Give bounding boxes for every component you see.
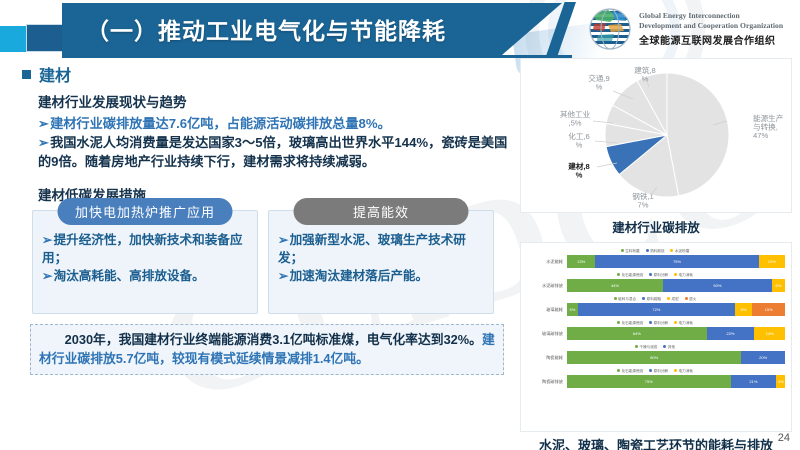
legend-swatch-icon (649, 273, 652, 276)
title-underline (62, 55, 572, 58)
arrow-bullet-icon: ➢ (42, 233, 53, 247)
legend-swatch-icon (674, 369, 677, 372)
legend-item: 其他 (663, 344, 675, 350)
legend-swatch-icon (674, 273, 677, 276)
summary-box: 2030年，我国建材行业终端能源消费3.1亿吨标准煤，电气化率达到32%。建材行… (30, 324, 504, 375)
legend-label: 电力消耗 (679, 320, 693, 326)
legend-swatch-icon (617, 321, 620, 324)
bar-group: 化石能源燃烧原料分解电力消耗陶瓷碳排放75%21%4% (525, 367, 785, 389)
content-left-column: 建材 建材行业发展现状与趋势 ➢建材行业碳排放量达7.6亿吨，占能源活动碳排放总… (22, 62, 512, 375)
bar-legend: 化石能源燃烧原料分解电力消耗 (525, 367, 785, 374)
bar-group: 破碎与混合原料熔融成型退火玻璃能耗5%72%8%15% (525, 295, 785, 317)
bar-track: 75%21%4% (567, 375, 785, 388)
legend-item: 原料分解 (649, 368, 668, 374)
legend-item: 生料粉磨 (621, 248, 640, 254)
legend-label: 化石能源燃烧 (622, 272, 644, 278)
bar-group: 化石能源燃烧原料分解电力消耗玻璃碳排放64%22%14% (525, 319, 785, 341)
logo-en-line2: Development and Cooperation Organization (639, 21, 783, 31)
bar-row: 陶瓷能耗80%20% (525, 350, 785, 365)
legend-swatch-icon (649, 369, 652, 372)
bar-segment: 50% (663, 279, 772, 292)
content-right-column: 能源生产与转换,47%钢铁,17%建材,8%化工,6%其他工业,5%交通,9%建… (520, 58, 792, 450)
legend-swatch-icon (646, 249, 649, 252)
bar-row: 玻璃碳排放64%22%14% (525, 326, 785, 341)
legend-label: 原料分解 (654, 272, 668, 278)
status-point-2-text: 我国水泥人均消费量是发达国家3～5倍，玻璃高出世界水平144%，瓷砖是美国的9倍… (38, 135, 507, 169)
legend-swatch-icon (617, 369, 620, 372)
status-point-2: ➢我国水泥人均消费量是发达国家3～5倍，玻璃高出世界水平144%，瓷砖是美国的9… (38, 133, 512, 171)
pie-chart-panel: 能源生产与转换,47%钢铁,17%建材,8%化工,6%其他工业,5%交通,9%建… (520, 58, 792, 213)
pie-slice (667, 73, 729, 196)
legend-label: 化石能源燃烧 (622, 368, 644, 374)
card-2-point-2-text: 加速淘汰建材落后产能。 (290, 269, 429, 283)
pie-slice-label: 能源生产与转换,47% (753, 113, 784, 140)
bar-track: 13%75%12% (567, 255, 785, 268)
card-2-point-1: ➢加强新型水泥、玻璃生产技术研发； (278, 231, 484, 267)
page-number: 24 (778, 432, 790, 444)
bar-segment: 8% (735, 303, 752, 316)
card-pill-label-1: 加快电加热炉推广应用 (58, 198, 233, 225)
pie-chart-caption: 建材行业碳排放 (520, 217, 792, 236)
bar-legend: 生料粉磨熟料煅烧水泥粉磨 (525, 247, 785, 254)
bar-segment: 75% (567, 375, 731, 388)
bar-row-label: 水泥能耗 (525, 259, 567, 265)
bar-legend: 化石能源燃烧原料分解电力消耗 (525, 319, 785, 326)
arrow-bullet-icon: ➢ (278, 269, 289, 283)
legend-swatch-icon (674, 321, 677, 324)
bar-row-label: 水泥碳排放 (525, 283, 567, 289)
pie-slice-label: 钢铁,17% (632, 191, 654, 210)
bar-segment: 64% (567, 327, 707, 340)
organization-logo: Global Energy Interconnection Developmen… (588, 5, 783, 53)
bar-row: 玻璃能耗5%72%8%15% (525, 302, 785, 317)
header-accent-cyan (0, 26, 26, 52)
arrow-bullet-icon: ➢ (38, 116, 49, 131)
bar-segment: 15% (752, 303, 785, 316)
legend-label: 干燥与烧成 (639, 344, 657, 350)
bar-segment: 75% (595, 255, 759, 268)
bar-segment: 6% (772, 279, 785, 292)
legend-label: 原料分解 (654, 320, 668, 326)
legend-swatch-icon (667, 297, 670, 300)
globe-icon (588, 7, 632, 51)
bar-segment: 12% (759, 255, 785, 268)
bar-row: 水泥碳排放44%50%6% (525, 278, 785, 293)
card-1-point-1: ➢提升经济性，加快新技术和装备应用； (42, 231, 248, 267)
title-bar: （一）推动工业电气化与节能降耗 (62, 3, 562, 55)
status-heading: 建材行业发展现状与趋势 (38, 91, 512, 111)
legend-label: 成型 (671, 296, 678, 302)
legend-swatch-icon (635, 345, 638, 348)
measure-cards: 加快电加热炉推广应用 ➢提升经济性，加快新技术和装备应用； ➢淘汰高耗能、高排放… (32, 210, 512, 314)
bar-segment: 44% (567, 279, 663, 292)
legend-item: 化石能源燃烧 (617, 272, 643, 278)
bar-legend: 破碎与混合原料熔融成型退火 (525, 295, 785, 302)
bar-row: 陶瓷碳排放75%21%4% (525, 374, 785, 389)
bar-segment: 22% (707, 327, 755, 340)
legend-item: 熟料煅烧 (646, 248, 665, 254)
page-title: （一）推动工业电气化与节能降耗 (86, 12, 446, 46)
bar-track: 64%22%14% (567, 327, 785, 340)
legend-swatch-icon (663, 345, 666, 348)
legend-item: 水泥粉磨 (670, 248, 689, 254)
legend-item: 退火 (685, 296, 697, 302)
legend-item: 化石能源燃烧 (617, 320, 643, 326)
bar-row-label: 玻璃能耗 (525, 307, 567, 313)
legend-item: 电力消耗 (674, 368, 693, 374)
bar-segment: 13% (567, 255, 595, 268)
bar-segment: 5% (567, 303, 578, 316)
legend-label: 原料分解 (654, 368, 668, 374)
legend-label: 生料粉磨 (625, 248, 639, 254)
bar-segment: 14% (754, 327, 785, 340)
bar-chart-caption: 水泥、玻璃、陶瓷工艺环节的能耗与排放 (520, 435, 792, 450)
legend-swatch-icon (614, 297, 617, 300)
legend-item: 破碎与混合 (614, 296, 636, 302)
bar-segment: 72% (578, 303, 735, 316)
legend-item: 干燥与烧成 (635, 344, 657, 350)
card-2-point-1-text: 加强新型水泥、玻璃生产技术研发； (278, 233, 466, 265)
legend-item: 电力消耗 (674, 320, 693, 326)
legend-swatch-icon (617, 273, 620, 276)
pie-slice-label: 建材,8% (567, 161, 590, 180)
square-bullet-icon (22, 70, 31, 79)
bar-segment: 4% (776, 375, 785, 388)
bar-row-label: 玻璃碳排放 (525, 331, 567, 337)
legend-label: 熟料煅烧 (650, 248, 664, 254)
bar-segment: 80% (567, 351, 741, 364)
bar-track: 44%50%6% (567, 279, 785, 292)
legend-swatch-icon (642, 297, 645, 300)
legend-label: 化石能源燃烧 (622, 320, 644, 326)
legend-item: 成型 (667, 296, 679, 302)
legend-label: 原料熔融 (647, 296, 661, 302)
arrow-bullet-icon: ➢ (278, 233, 289, 247)
status-point-1: ➢建材行业碳排放量达7.6亿吨，占能源活动碳排放总量8%。 (38, 114, 512, 133)
legend-label: 水泥粉磨 (675, 248, 689, 254)
bar-group: 生料粉磨熟料煅烧水泥粉磨水泥能耗13%75%12% (525, 247, 785, 269)
logo-text-block: Global Energy Interconnection Developmen… (639, 11, 783, 47)
summary-plain-text: 2030年，我国建材行业终端能源消费3.1亿吨标准煤，电气化率达到32%。 (39, 332, 482, 347)
legend-swatch-icon (621, 249, 624, 252)
section-title: 建材 (39, 62, 71, 86)
logo-en-line1: Global Energy Interconnection (639, 11, 783, 21)
card-1-point-1-text: 提升经济性，加快新技术和装备应用； (42, 233, 242, 265)
bar-group: 干燥与烧成其他陶瓷能耗80%20% (525, 343, 785, 365)
legend-label: 破碎与混合 (618, 296, 636, 302)
card-pill-label-2: 提高能效 (294, 198, 469, 225)
bar-segment: 20% (741, 351, 785, 364)
carbon-emission-pie-chart: 能源生产与转换,47%钢铁,17%建材,8%化工,6%其他工业,5%交通,9%建… (521, 59, 793, 211)
arrow-bullet-icon: ➢ (42, 269, 53, 283)
pie-slice-label: 化工,6% (568, 131, 590, 150)
bar-row: 水泥能耗13%75%12% (525, 254, 785, 269)
section-heading: 建材 (22, 62, 512, 86)
bar-legend: 干燥与烧成其他 (525, 343, 785, 350)
bar-track: 5%72%8%15% (567, 303, 785, 316)
bar-segment: 21% (731, 375, 777, 388)
legend-item: 原料熔融 (642, 296, 661, 302)
legend-item: 原料分解 (649, 272, 668, 278)
legend-label: 其他 (668, 344, 675, 350)
legend-label: 电力消耗 (679, 272, 693, 278)
legend-swatch-icon (649, 321, 652, 324)
card-2-point-2: ➢加速淘汰建材落后产能。 (278, 267, 484, 285)
bar-legend: 化石能源燃烧原料分解电力消耗 (525, 271, 785, 278)
legend-swatch-icon (685, 297, 688, 300)
pie-slice-label: 其他工业,5% (560, 109, 591, 128)
legend-item: 电力消耗 (674, 272, 693, 278)
legend-item: 化石能源燃烧 (617, 368, 643, 374)
process-energy-bar-chart: 生料粉磨熟料煅烧水泥粉磨水泥能耗13%75%12%化石能源燃烧原料分解电力消耗水… (520, 242, 792, 432)
status-point-1-text: 建材行业碳排放量达7.6亿吨，占能源活动碳排放总量8%。 (50, 116, 391, 131)
card-1-point-2-text: 淘汰高耗能、高排放设备。 (54, 269, 205, 283)
measure-card-efficiency: 提高能效 ➢加强新型水泥、玻璃生产技术研发； ➢加速淘汰建材落后产能。 (268, 210, 494, 314)
card-1-point-2: ➢淘汰高耗能、高排放设备。 (42, 267, 248, 285)
measure-card-electric-furnace: 加快电加热炉推广应用 ➢提升经济性，加快新技术和装备应用； ➢淘汰高耗能、高排放… (32, 210, 258, 314)
bar-track: 80%20% (567, 351, 785, 364)
legend-label: 退火 (689, 296, 696, 302)
legend-label: 电力消耗 (679, 368, 693, 374)
bar-row-label: 陶瓷碳排放 (525, 379, 567, 385)
legend-item: 原料分解 (649, 320, 668, 326)
bar-group: 化石能源燃烧原料分解电力消耗水泥碳排放44%50%6% (525, 271, 785, 293)
bar-row-label: 陶瓷能耗 (525, 355, 567, 361)
slide-header: （一）推动工业电气化与节能降耗 (0, 0, 800, 58)
pie-slice-label: 交通,9% (588, 73, 610, 92)
legend-swatch-icon (670, 249, 673, 252)
arrow-bullet-icon: ➢ (38, 135, 49, 150)
logo-cn-name: 全球能源互联网发展合作组织 (639, 32, 783, 47)
